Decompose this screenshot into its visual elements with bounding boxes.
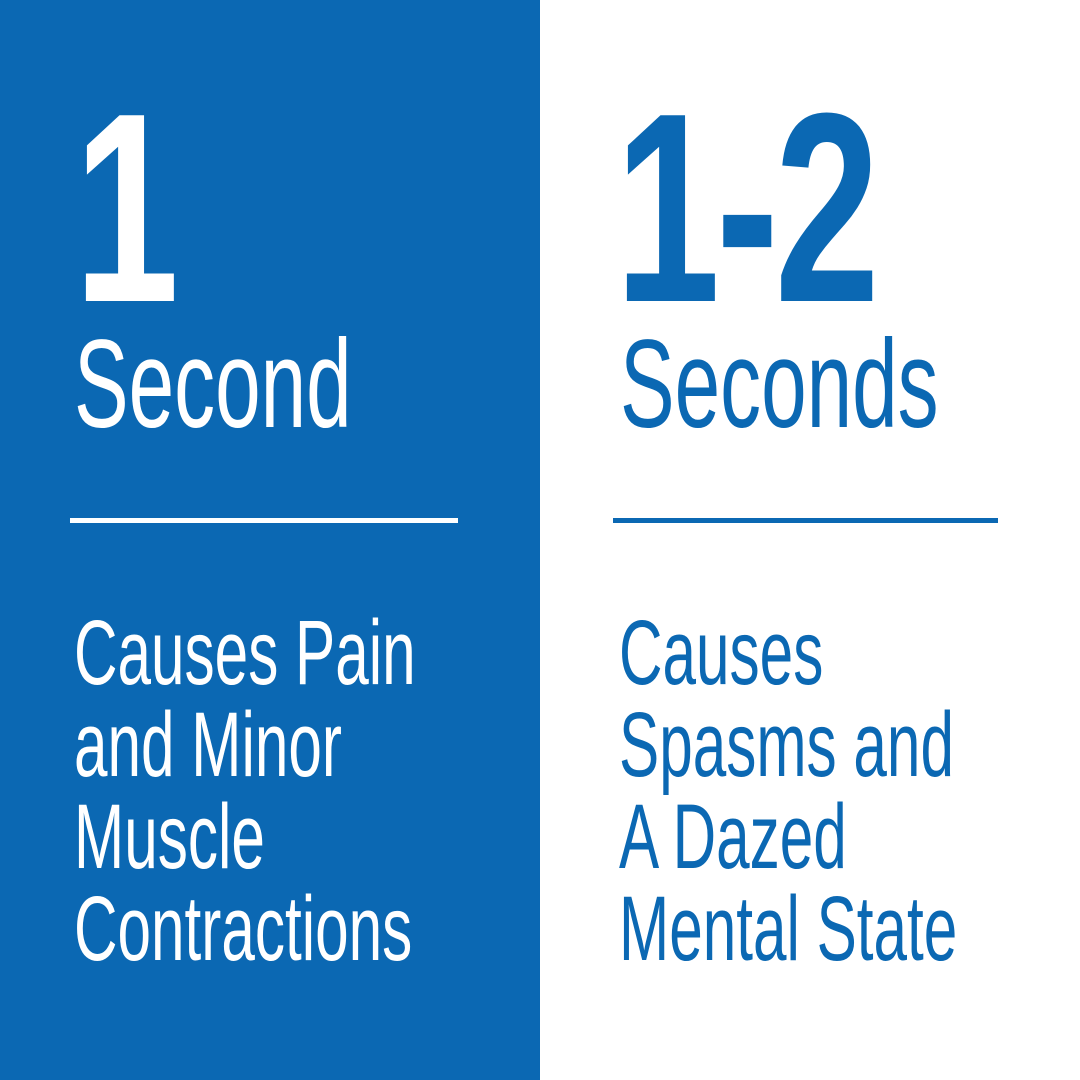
panel-one-second: 1 Second Causes Pain and Minor Muscle Co… [0, 0, 540, 1080]
panel-body-text: Causes Pain and Minor Muscle Contraction… [74, 607, 596, 975]
panel-body-text: Causes Spasms and A Dazed Mental State [619, 607, 1080, 975]
panel-unit-label: Seconds [620, 322, 939, 447]
panel-divider-rule [70, 518, 458, 523]
infographic-canvas: 1 Second Causes Pain and Minor Muscle Co… [0, 0, 1080, 1080]
panel-numeral: 1-2 [615, 74, 876, 344]
body-text-line: Contractions [74, 883, 416, 975]
body-text-line: A Dazed [619, 791, 957, 883]
body-text-line: Causes Pain [74, 607, 416, 699]
body-text-line: Mental State [619, 883, 957, 975]
body-text-line: Causes [619, 607, 957, 699]
body-text-line: Muscle [74, 791, 416, 883]
panel-divider-rule [613, 518, 998, 523]
panel-unit-label: Second [74, 322, 352, 447]
body-text-line: Spasms and [619, 699, 957, 791]
panel-numeral: 1 [74, 74, 175, 344]
panel-one-to-two-seconds: 1-2 Seconds Causes Spasms and A Dazed Me… [540, 0, 1080, 1080]
body-text-line: and Minor [74, 699, 416, 791]
